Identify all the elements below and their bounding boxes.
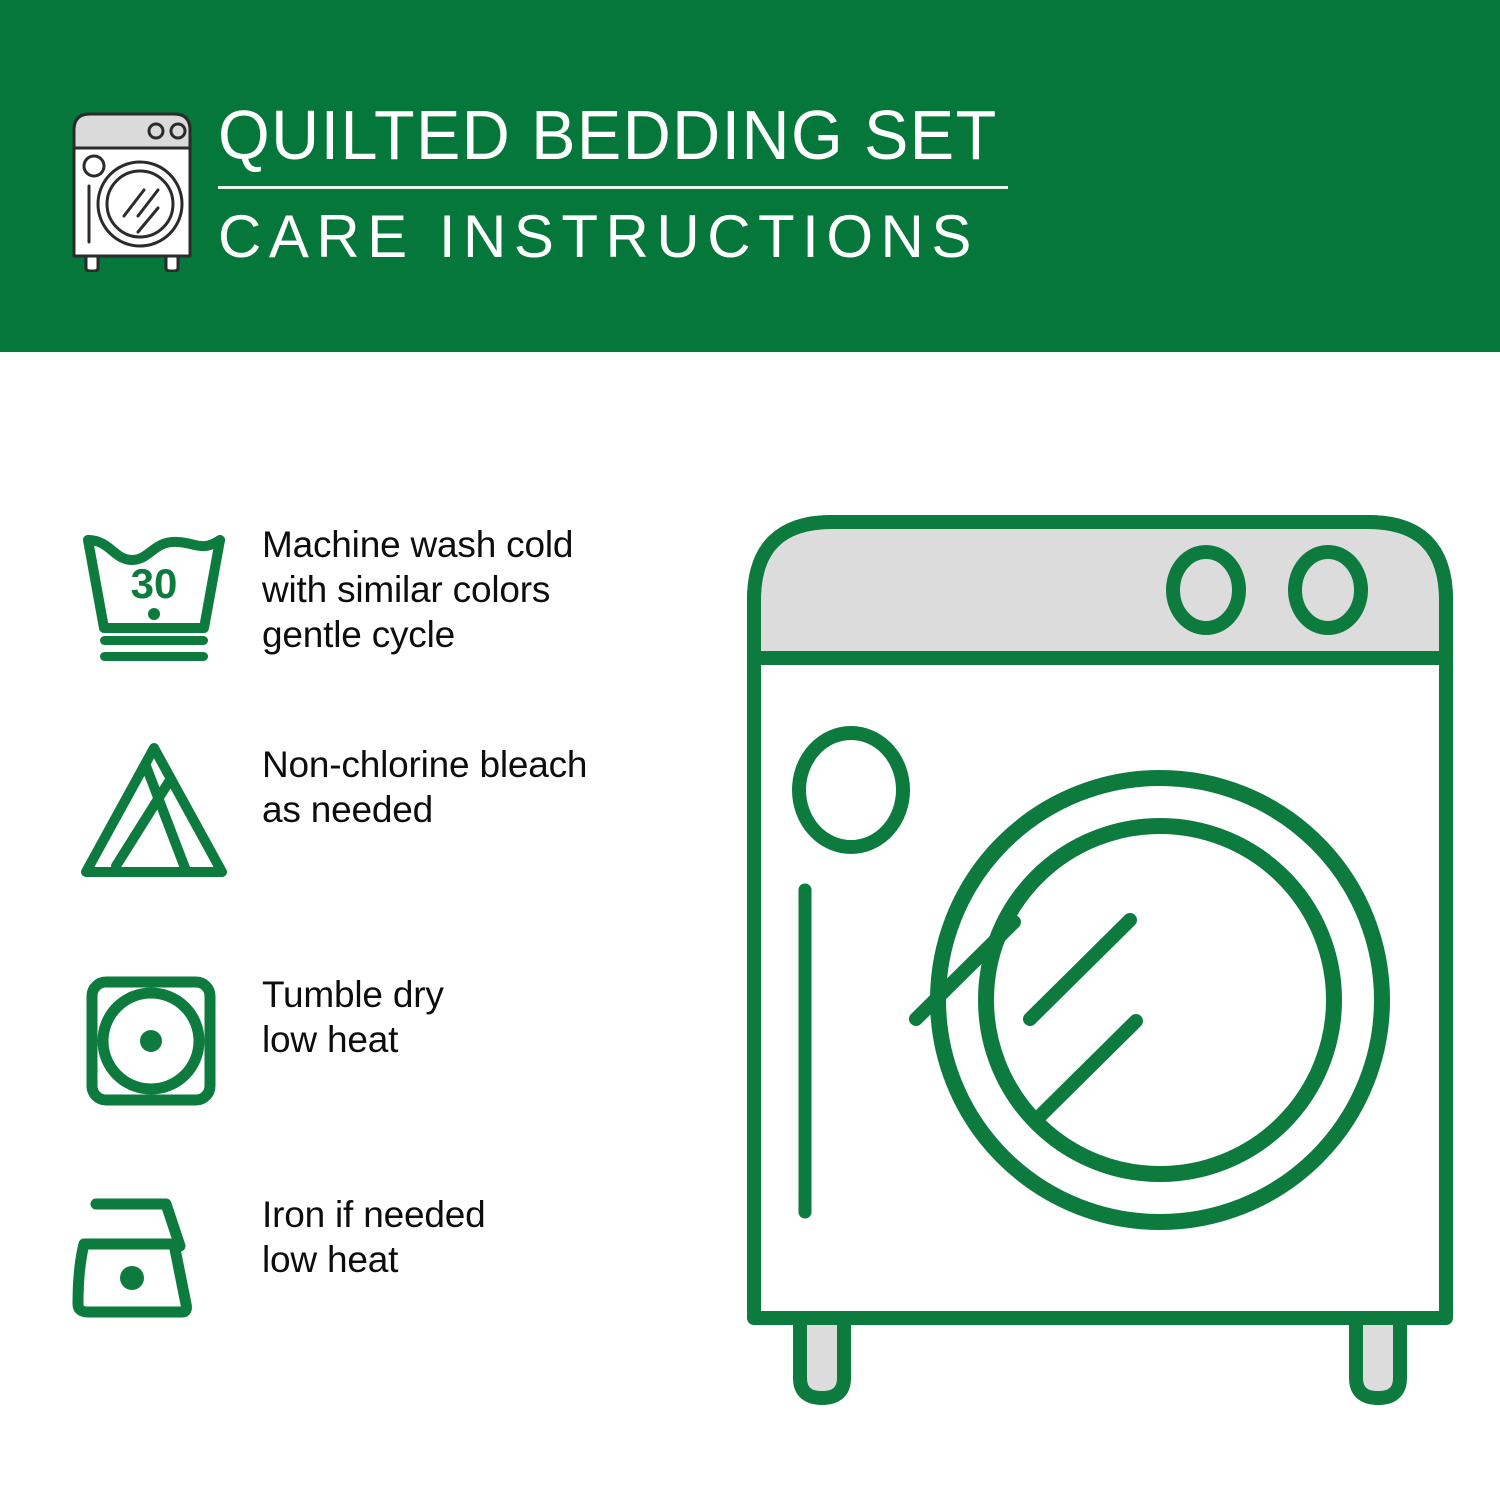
care-line: low heat — [262, 1237, 485, 1282]
non-chlorine-bleach-triangle-icon — [70, 736, 238, 886]
care-text-machine-wash: Machine wash cold with similar colors ge… — [238, 516, 573, 657]
leg-right — [1356, 1318, 1400, 1398]
care-line: Non-chlorine bleach — [262, 742, 587, 787]
page-title: QUILTED BEDDING SET — [218, 96, 978, 174]
care-line: as needed — [262, 787, 587, 832]
header-divider — [218, 186, 1008, 189]
leg-left — [800, 1318, 844, 1398]
wash-temperature-label: 30 — [131, 560, 178, 607]
care-row-bleach: Non-chlorine bleach as needed — [70, 736, 710, 886]
header-text-block: QUILTED BEDDING SET CARE INSTRUCTIONS — [218, 96, 1018, 271]
page-subtitle: CARE INSTRUCTIONS — [218, 203, 1018, 271]
care-line: Iron if needed — [262, 1192, 485, 1237]
care-row-machine-wash: 30 Machine wash cold with similar colors… — [70, 516, 710, 666]
care-row-iron: Iron if needed low heat — [70, 1186, 710, 1336]
front-load-washing-machine-illustration — [740, 500, 1460, 1420]
iron-low-heat-icon — [70, 1186, 238, 1336]
header-band: QUILTED BEDDING SET CARE INSTRUCTIONS — [0, 0, 1500, 352]
care-text-tumble-dry: Tumble dry low heat — [238, 966, 444, 1062]
care-line: low heat — [262, 1017, 444, 1062]
care-line: Tumble dry — [262, 972, 444, 1017]
care-row-tumble-dry: Tumble dry low heat — [70, 966, 710, 1116]
care-line: gentle cycle — [262, 612, 573, 657]
care-line: Machine wash cold — [262, 522, 573, 567]
care-text-iron: Iron if needed low heat — [238, 1186, 485, 1282]
care-line: with similar colors — [262, 567, 573, 612]
wash-tub-30-gentle-icon: 30 — [70, 516, 238, 666]
washing-machine-icon — [62, 104, 202, 272]
care-text-bleach: Non-chlorine bleach as needed — [238, 736, 587, 832]
care-instructions-infographic: QUILTED BEDDING SET CARE INSTRUCTIONS 30… — [0, 0, 1500, 1500]
tumble-dry-low-icon — [70, 966, 238, 1116]
